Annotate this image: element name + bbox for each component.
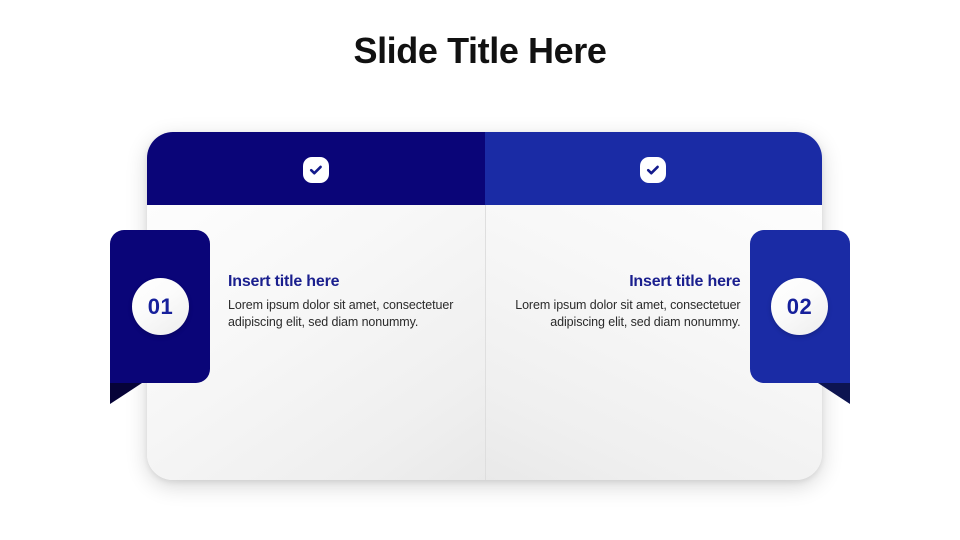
panel-01-text: Lorem ipsum dolor sit amet, consectetuer… <box>228 297 488 331</box>
page-title: Slide Title Here <box>0 28 960 74</box>
panel-01-title: Insert title here <box>228 272 488 292</box>
panel-01-content: Insert title here Lorem ipsum dolor sit … <box>228 272 488 331</box>
check-icon[interactable] <box>640 157 666 183</box>
panel-02-content: Insert title here Lorem ipsum dolor sit … <box>481 272 741 331</box>
number-tab-01[interactable]: 01 <box>110 230 210 383</box>
number-tab-02-tail <box>818 383 850 404</box>
check-icon[interactable] <box>303 157 329 183</box>
panel-02-header <box>485 132 823 205</box>
two-panel-card: Insert title here Lorem ipsum dolor sit … <box>147 132 822 480</box>
slide-canvas: Slide Title Here Insert title here Lorem… <box>0 0 960 540</box>
panel-02-text: Lorem ipsum dolor sit amet, consectetuer… <box>481 297 741 331</box>
panel-divider <box>485 205 486 480</box>
number-badge-02: 02 <box>771 278 828 335</box>
number-badge-01: 01 <box>132 278 189 335</box>
number-tab-02[interactable]: 02 <box>750 230 850 383</box>
panel-02-title: Insert title here <box>481 272 741 292</box>
panel-01-header <box>147 132 485 205</box>
number-tab-01-tail <box>110 383 142 404</box>
